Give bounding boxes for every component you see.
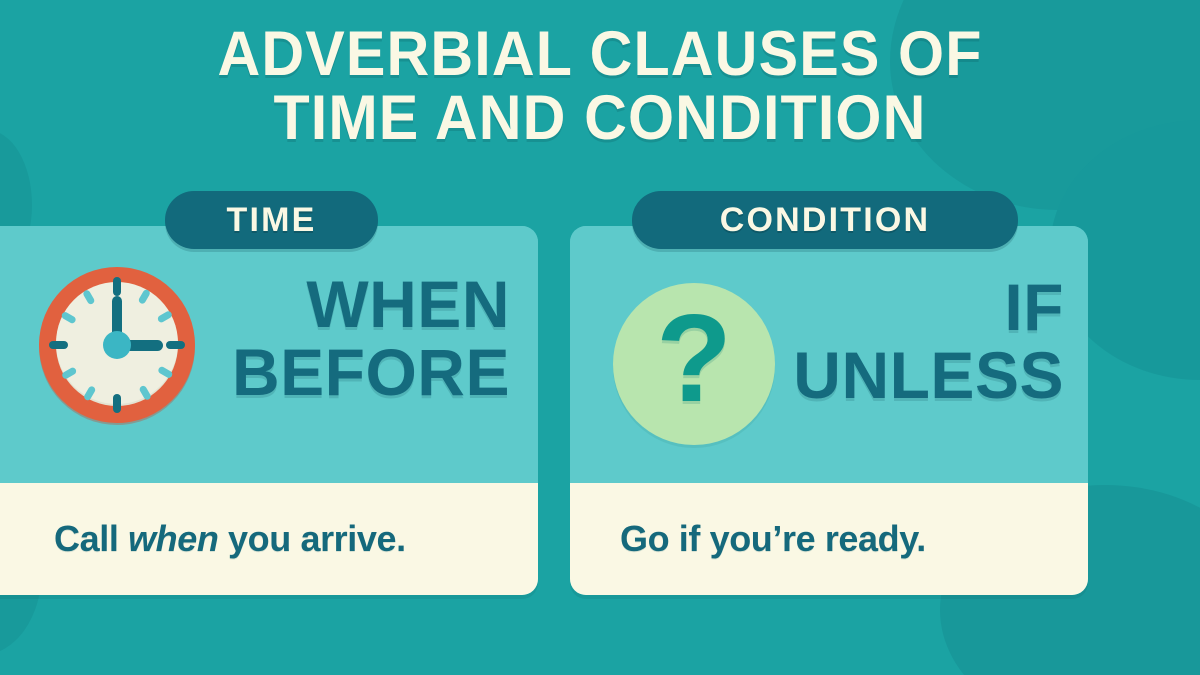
example-sentence-time: Call when you arrive. — [0, 518, 406, 560]
card-condition: ? IF UNLESS Go if you’re ready. — [570, 226, 1088, 595]
example-condition-prefix: Go if you’re ready. — [620, 518, 926, 559]
example-time-suffix: you arrive. — [218, 518, 405, 559]
question-mark-icon: ? — [613, 283, 775, 445]
card-condition-body: ? IF UNLESS — [570, 226, 1088, 483]
poster-canvas: ADVERBIAL CLAUSES OF TIME AND CONDITION — [0, 0, 1200, 675]
keywords-condition: IF UNLESS — [793, 274, 1064, 410]
badge-condition: CONDITION — [632, 191, 1018, 249]
page-title-line-2: TIME AND CONDITION — [36, 86, 1164, 150]
card-time: WHEN BEFORE Call when you arrive. — [0, 226, 538, 595]
question-mark-icon-circle: ? — [613, 283, 775, 445]
keyword-condition-0: IF — [793, 274, 1064, 342]
clock-icon-svg — [30, 258, 204, 432]
example-time-prefix: Call — [54, 518, 128, 559]
example-time-emphasis: when — [128, 518, 218, 559]
badge-time-label: TIME — [226, 201, 316, 240]
card-time-footer: Call when you arrive. — [0, 483, 538, 595]
card-time-body: WHEN BEFORE — [0, 226, 538, 483]
example-sentence-condition: Go if you’re ready. — [570, 518, 926, 560]
keyword-time-0: WHEN — [232, 271, 510, 339]
card-condition-footer: Go if you’re ready. — [570, 483, 1088, 595]
keyword-condition-1: UNLESS — [793, 342, 1064, 410]
badge-time: TIME — [165, 191, 378, 249]
page-title: ADVERBIAL CLAUSES OF TIME AND CONDITION — [36, 22, 1164, 151]
question-mark-icon-glyph: ? — [656, 297, 732, 421]
keyword-time-1: BEFORE — [232, 339, 510, 407]
keywords-time: WHEN BEFORE — [232, 271, 510, 407]
badge-condition-label: CONDITION — [720, 201, 931, 240]
clock-icon — [30, 258, 204, 432]
page-title-line-1: ADVERBIAL CLAUSES OF — [36, 22, 1164, 86]
